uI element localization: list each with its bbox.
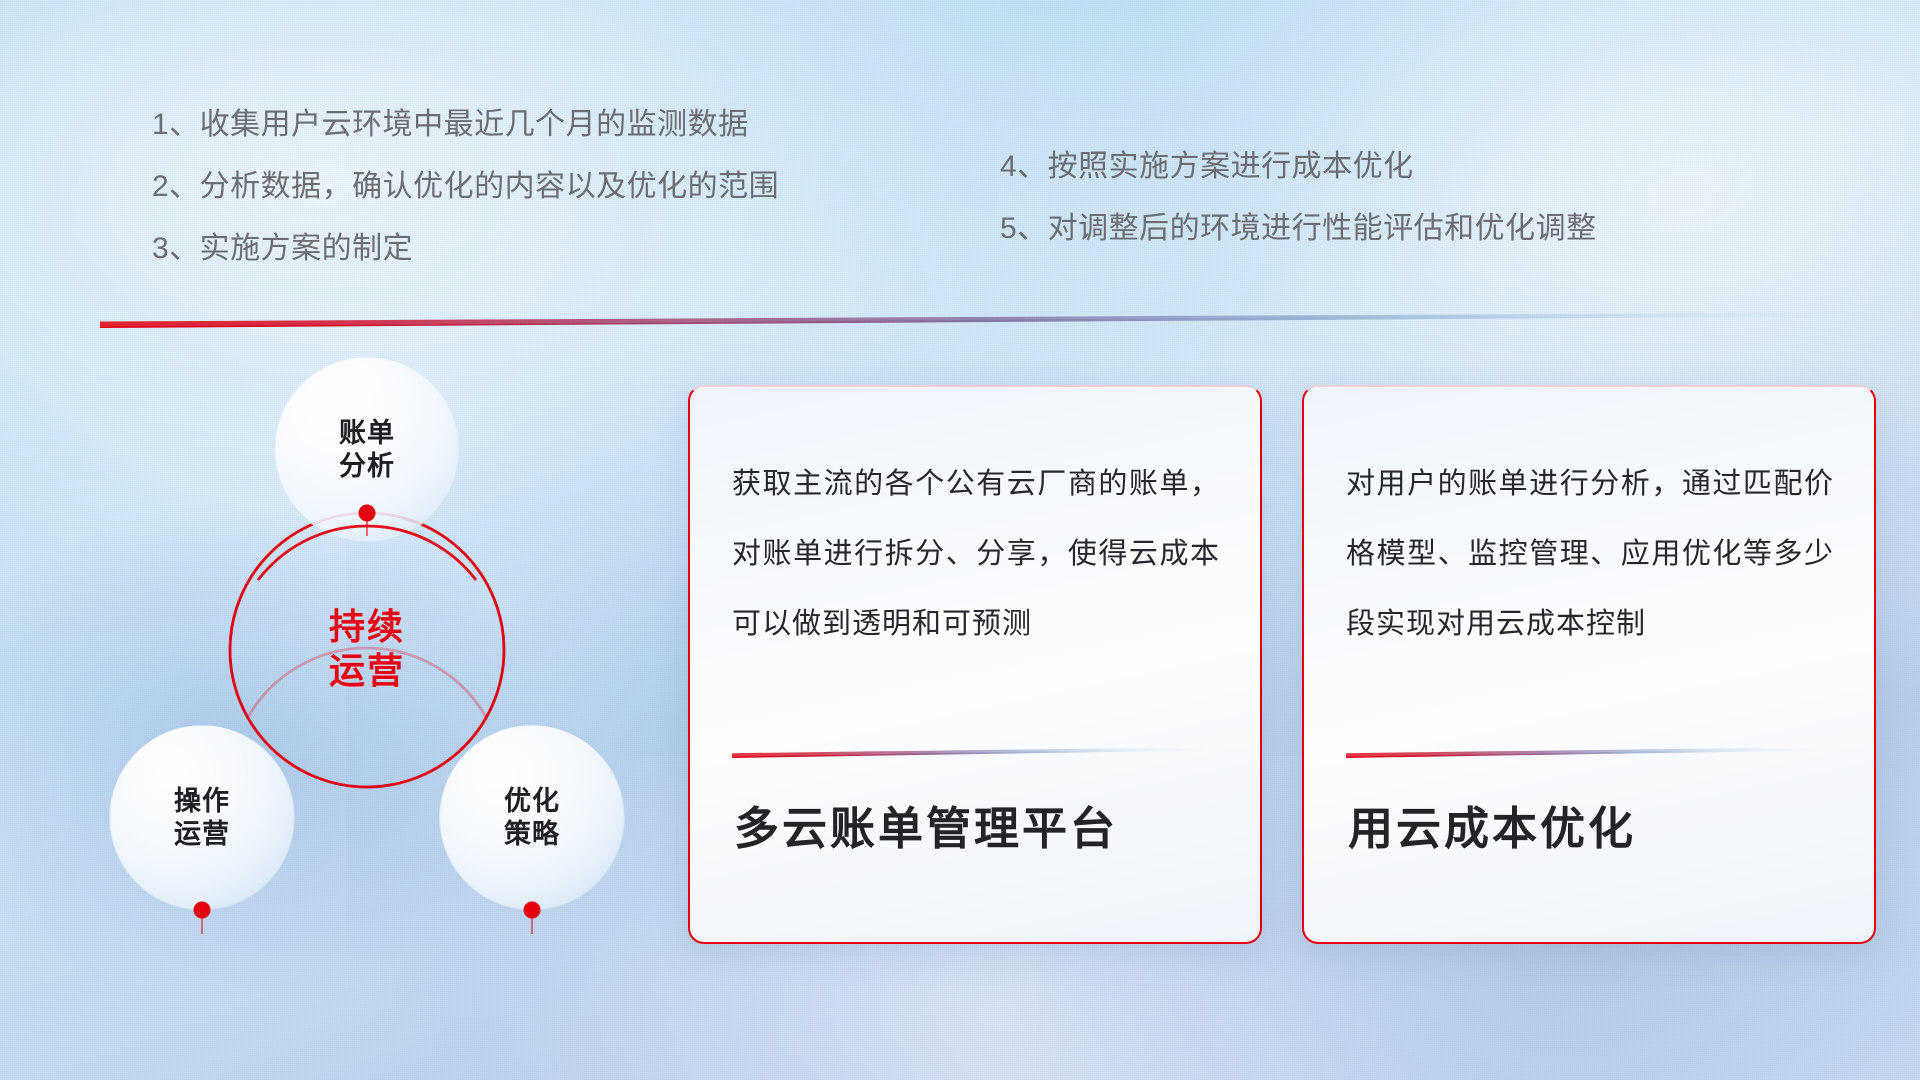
steps-left-column: 1、收集用户云环境中最近几个月的监测数据 2、分析数据，确认优化的内容以及优化的… [152, 110, 779, 264]
connector-node-bottom-right [524, 902, 541, 935]
continuous-operation-diagram: 账单 分析 持续 运营 操作 运营 优化 策略 [40, 340, 680, 960]
card-title: 多云账单管理平台 [734, 802, 1230, 856]
step-item-1: 1、收集用户云环境中最近几个月的监测数据 [152, 110, 779, 140]
steps-right-column: 4、按照实施方案进行成本优化 5、对调整后的环境进行性能评估和优化调整 [1000, 152, 1597, 244]
connector-node-bottom-left [194, 902, 211, 935]
ring-arc-top [248, 648, 487, 718]
card-title: 用云成本优化 [1348, 802, 1844, 856]
card-divider [732, 745, 1202, 756]
step-item-5: 5、对调整后的环境进行性能评估和优化调整 [1000, 214, 1597, 244]
card-body-text: 对用户的账单进行分析，通过匹配价格模型、监控管理、应用优化等多少段实现对用云成本… [1346, 449, 1834, 660]
card-multi-cloud-billing-platform[interactable]: 获取主流的各个公有云厂商的账单，对账单进行拆分、分享，使得云成本可以做到透明和可… [688, 385, 1262, 944]
card-body-text: 获取主流的各个公有云厂商的账单，对账单进行拆分、分享，使得云成本可以做到透明和可… [732, 449, 1220, 660]
center-ring [230, 513, 504, 787]
steps-section: 1、收集用户云环境中最近几个月的监测数据 2、分析数据，确认优化的内容以及优化的… [0, 0, 1920, 300]
section-divider [100, 312, 1842, 328]
card-divider [1346, 745, 1816, 756]
node-bubble-operation [110, 726, 294, 910]
node-bubble-strategy [440, 726, 624, 910]
card-cloud-cost-optimization[interactable]: 对用户的账单进行分析，通过匹配价格模型、监控管理、应用优化等多少段实现对用云成本… [1302, 385, 1876, 944]
step-item-4: 4、按照实施方案进行成本优化 [1000, 152, 1597, 182]
step-item-2: 2、分析数据，确认优化的内容以及优化的范围 [152, 172, 779, 202]
step-item-3: 3、实施方案的制定 [152, 234, 779, 264]
